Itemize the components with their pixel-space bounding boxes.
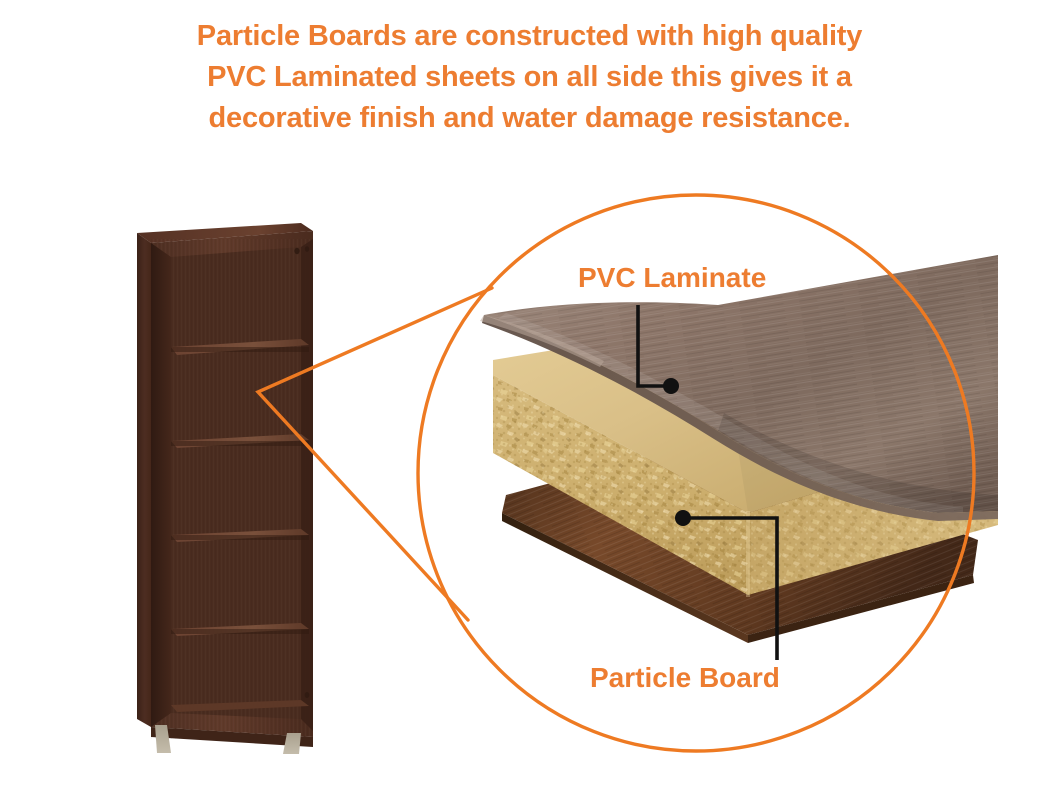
callout-label-particle-board: Particle Board: [590, 662, 780, 694]
product-bookshelf-image: [131, 219, 319, 754]
bookshelf-illustration: [131, 219, 319, 754]
infographic-canvas: Particle Boards are constructed with hig…: [0, 0, 1059, 811]
callout-label-pvc-laminate: PVC Laminate: [578, 262, 766, 294]
page-title: Particle Boards are constructed with hig…: [0, 16, 1059, 139]
